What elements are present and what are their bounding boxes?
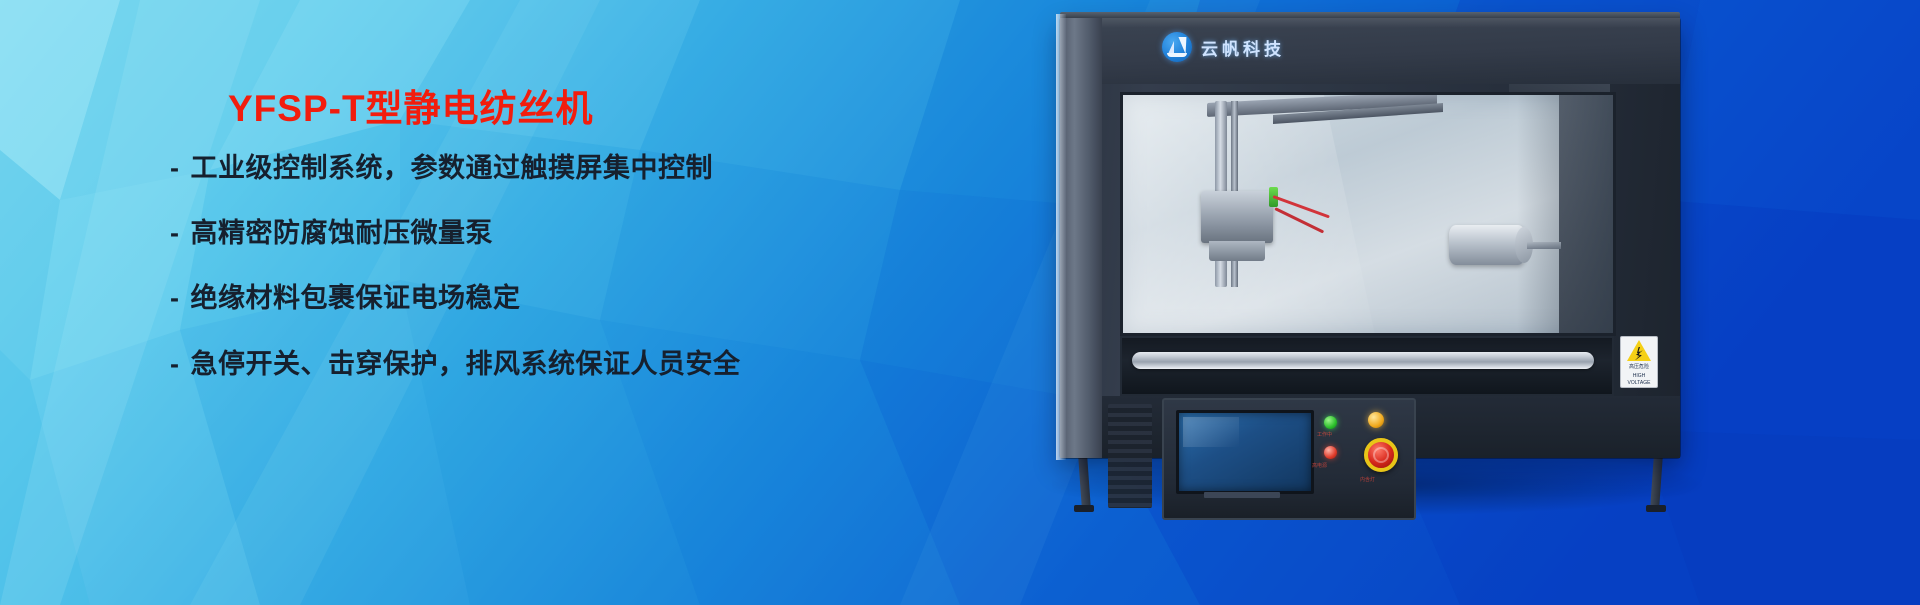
syringe-pump bbox=[1201, 191, 1273, 243]
bullet-dash: - bbox=[170, 220, 180, 247]
glass-shade bbox=[1517, 95, 1613, 333]
ventilation-grille bbox=[1108, 404, 1152, 508]
list-item-label: 高精密防腐蚀耐压微量泵 bbox=[191, 218, 494, 248]
high-voltage-icon: ⚡ bbox=[1627, 340, 1651, 361]
cabinet-header: 云帆科技 bbox=[1102, 18, 1680, 84]
door-handle[interactable] bbox=[1132, 352, 1594, 369]
syringe-pump-base bbox=[1209, 241, 1265, 261]
high-voltage-warning-label: ⚡ 高压危险 HIGH VOLTAGE bbox=[1620, 336, 1658, 388]
product-photo: 云帆科技 ⚡ bbox=[1012, 0, 1772, 605]
status-led-power-label: 高电源 bbox=[1312, 462, 1327, 469]
status-led-running-label: 工作中 bbox=[1317, 431, 1332, 438]
list-item: -工业级控制系统，参数通过触摸屏集中控制 bbox=[170, 155, 713, 182]
page-title: YFSP-T型静电纺丝机 bbox=[228, 78, 594, 132]
collector-drum bbox=[1449, 225, 1525, 265]
emergency-stop-icon[interactable] bbox=[1364, 438, 1398, 472]
cabinet-left-pillar bbox=[1060, 18, 1102, 458]
touchscreen[interactable] bbox=[1176, 410, 1314, 494]
product-banner: YFSP-T型静电纺丝机 -工业级控制系统，参数通过触摸屏集中控制 -高精密防腐… bbox=[0, 0, 1920, 605]
screen-nameplate bbox=[1204, 492, 1280, 498]
list-item: -急停开关、击穿保护，排风系统保证人员安全 bbox=[170, 351, 741, 378]
glass-chamber bbox=[1120, 92, 1616, 336]
status-led-lamp bbox=[1368, 412, 1384, 428]
hazard-label-line1: 高压危险 bbox=[1629, 364, 1649, 370]
bullet-dash: - bbox=[170, 285, 180, 312]
bullet-dash: - bbox=[170, 351, 180, 378]
machine-foot-right bbox=[1646, 505, 1666, 512]
hazard-label-line2: HIGH VOLTAGE bbox=[1621, 373, 1657, 386]
brand-logo: 云帆科技 bbox=[1162, 32, 1285, 62]
list-item: -高精密防腐蚀耐压微量泵 bbox=[170, 220, 493, 247]
brand-name: 云帆科技 bbox=[1201, 35, 1285, 60]
bullet-dash: - bbox=[170, 155, 180, 182]
list-item-label: 工业级控制系统，参数通过触摸屏集中控制 bbox=[191, 153, 714, 183]
machine-foot-left bbox=[1074, 505, 1094, 512]
copy-block: YFSP-T型静电纺丝机 -工业级控制系统，参数通过触摸屏集中控制 -高精密防腐… bbox=[0, 0, 1000, 605]
control-panel: 工作中 高电源 内含灯 bbox=[1162, 398, 1416, 520]
status-led-running bbox=[1324, 416, 1337, 429]
list-item: -绝缘材料包裹保证电场稳定 bbox=[170, 285, 521, 312]
list-item-label: 急停开关、击穿保护，排风系统保证人员安全 bbox=[191, 349, 741, 379]
sailboat-icon bbox=[1162, 32, 1192, 62]
status-led-lamp-label: 内含灯 bbox=[1360, 476, 1375, 483]
status-led-power bbox=[1324, 446, 1337, 459]
list-item-label: 绝缘材料包裹保证电场稳定 bbox=[191, 283, 521, 313]
cabinet-edge-highlight bbox=[1056, 14, 1066, 460]
